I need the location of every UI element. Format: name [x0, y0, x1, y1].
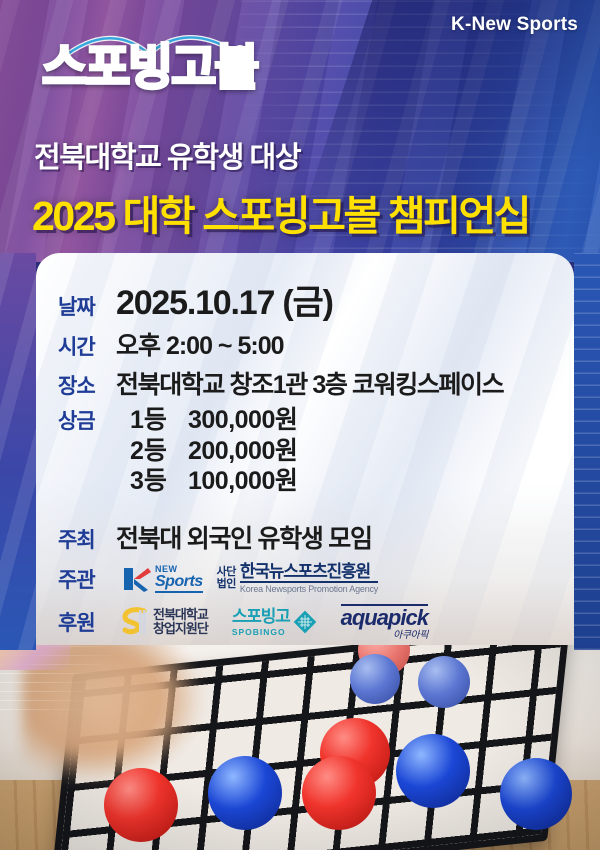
sponsor-aquapick: aquapick 아쿠아픽 — [341, 604, 428, 641]
prize-row: 상금 1등 300,000원 — [58, 405, 556, 436]
agency-logo: 사단법인 한국뉴스포츠진흥원 Korea Newsports Promotion… — [217, 563, 378, 595]
event-logo: 스포빙고볼 — [42, 44, 257, 93]
prize-row: 3등 100,000원 — [58, 466, 556, 497]
host-value: 전북대 외국인 유학생 모임 — [116, 519, 372, 555]
k-mark-icon — [122, 566, 152, 592]
jbnu-s-mark-icon — [122, 607, 148, 637]
place-label: 장소 — [58, 370, 116, 400]
brand-name: K-New Sports — [451, 14, 578, 36]
board-game-photo — [0, 630, 600, 850]
prize-rank: 3등 — [116, 466, 188, 497]
prize-rank: 2등 — [116, 436, 188, 467]
host-label: 주최 — [58, 524, 116, 554]
host-row: 주최 전북대 외국인 유학생 모임 — [58, 519, 556, 555]
prize-amount: 300,000원 — [188, 405, 297, 436]
date-value: 2025.10.17 (금) — [116, 275, 333, 324]
sponsor-name-line2: 창업지원단 — [153, 622, 208, 637]
info-rows: 날짜 2025.10.17 (금) 시간 오후 2:00 ~ 5:00 장소 전… — [36, 253, 574, 641]
knew-sports-text: Sports — [155, 574, 203, 593]
right-color-band — [574, 253, 600, 650]
place-value: 전북대학교 창조1관 3층 코워킹스페이스 — [116, 365, 503, 401]
date-label: 날짜 — [58, 291, 116, 321]
sponsor-name-line2: SPOBINGO — [232, 628, 286, 637]
prize-row: 2등 200,000원 — [58, 436, 556, 467]
logo-word-ball: 볼 — [214, 41, 257, 95]
info-panel: 날짜 2025.10.17 (금) 시간 오후 2:00 ~ 5:00 장소 전… — [36, 253, 574, 645]
place-row: 장소 전북대학교 창조1관 3층 코워킹스페이스 — [58, 365, 556, 401]
time-row: 시간 오후 2:00 ~ 5:00 — [58, 326, 556, 362]
date-row: 날짜 2025.10.17 (금) — [58, 275, 556, 324]
knew-sports-logo: NEW Sports — [122, 565, 203, 593]
sponsor-name-line1: aquapick — [341, 604, 428, 629]
agency-corporation-type: 사단법인 — [217, 567, 236, 590]
organizer-row: 주관 NEW Sports 사단법인 한국뉴스포츠진흥원 — [58, 563, 556, 595]
time-value: 오후 2:00 ~ 5:00 — [116, 326, 284, 362]
prize-amount: 100,000원 — [188, 466, 297, 497]
prize-label: 상금 — [58, 409, 116, 435]
sponsor-name-line2: 아쿠아픽 — [393, 631, 428, 641]
agency-name-kr: 한국뉴스포츠진흥원 — [240, 563, 378, 584]
sponsor-name-line1: 스포빙고 — [232, 608, 290, 626]
agency-name-en: Korea Newsports Promotion Agency — [240, 585, 378, 594]
prize-section: 상금 1등 300,000원 2등 200,000원 3등 100,000원 — [58, 405, 556, 497]
logo-word-spobingo: 스포빙고 — [42, 41, 214, 95]
prize-rank: 1등 — [116, 405, 188, 436]
prize-amount: 200,000원 — [188, 436, 297, 467]
left-color-band — [0, 253, 36, 650]
poster-subtitle: 전북대학교 유학생 대상 — [34, 134, 300, 176]
sponsor-name-line1: 전북대학교 — [153, 608, 208, 623]
sponsor-row: 후원 전북대학교 창업지원단 스포빙고 SPOBINGO — [58, 604, 556, 641]
sponsor-label: 후원 — [58, 607, 116, 637]
poster: K-New Sports 스포빙고볼 전북대학교 유학생 대상 2025 대학 … — [0, 0, 600, 850]
time-label: 시간 — [58, 331, 116, 361]
sponsor-spobingo: 스포빙고 SPOBINGO — [232, 608, 317, 637]
poster-title: 2025 대학 스포빙고볼 챔피언십 — [32, 182, 529, 242]
spobingo-diamond-icon — [293, 610, 317, 634]
organizer-label: 주관 — [58, 564, 116, 594]
sponsor-jbnu-startup-center: 전북대학교 창업지원단 — [122, 607, 208, 637]
